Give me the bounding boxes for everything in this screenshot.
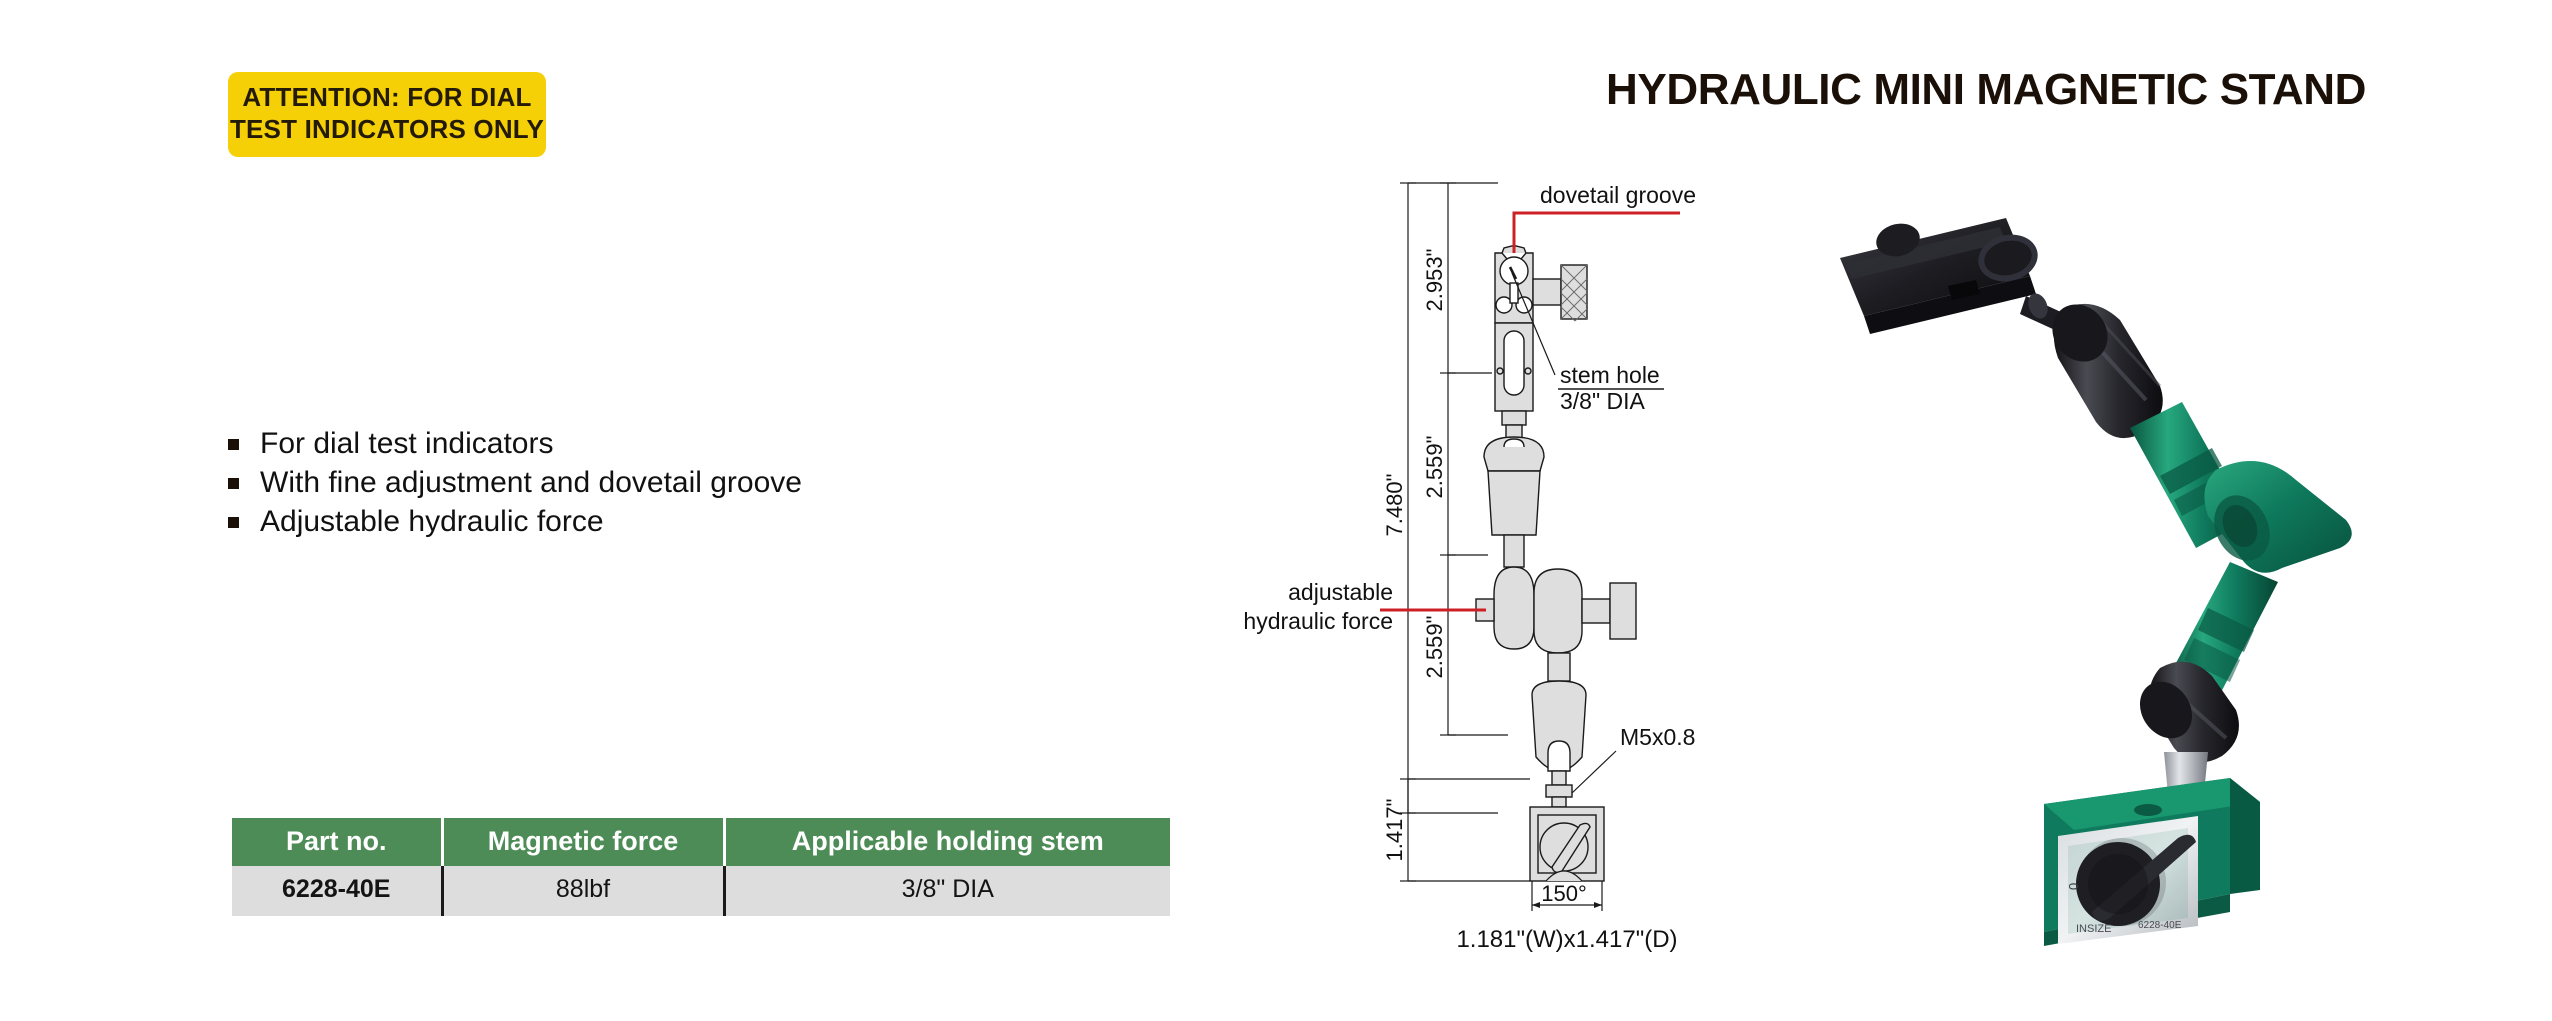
specification-table: Part no. Magnetic force Applicable holdi…: [232, 818, 1170, 916]
fine-adjustment-head: [1495, 246, 1533, 411]
indicator-clamp-head: [1840, 218, 2042, 334]
dimension-upper-arm: [1440, 183, 1492, 373]
dimension-label-lower-arm: 2.559": [1422, 616, 1447, 679]
column-header-holding-stem: Applicable holding stem: [724, 818, 1170, 866]
stem-hole-label-line-1: stem hole: [1560, 362, 1660, 388]
upper-ball-joint: [2041, 293, 2163, 438]
hydraulic-hub: [1476, 567, 1636, 653]
stem-hole-label-line-2: 3/8" DIA: [1560, 388, 1646, 414]
base-footprint-label: 1.181"(W)x1.417"(D): [1456, 926, 1677, 953]
green-adjust-knob[interactable]: [2204, 461, 2352, 573]
dovetail-leader-line: [1514, 213, 1680, 253]
product-photo: 0 INSIZE 6228-40E: [1830, 190, 2390, 980]
cell-holding-stem: 3/8" DIA: [724, 866, 1170, 916]
table-row: 6228-40E 88lbf 3/8" DIA: [232, 866, 1170, 916]
attention-badge: ATTENTION: FOR DIAL TEST INDICATORS ONLY: [228, 72, 546, 157]
dimension-label-upper-arm: 2.953": [1422, 249, 1447, 312]
hydraulic-callout-line-2: hydraulic force: [1218, 607, 1393, 636]
feature-item-label: For dial test indicators: [260, 427, 553, 460]
table-header-row: Part no. Magnetic force Applicable holdi…: [232, 818, 1170, 866]
dimension-base-height: [1400, 779, 1530, 881]
column-header-part-no: Part no.: [232, 818, 442, 866]
dimension-label-mid-arm: 2.559": [1422, 436, 1447, 499]
feature-item: With fine adjustment and dovetail groove: [228, 463, 802, 502]
dimension-mid-arm: [1440, 373, 1488, 555]
square-bullet-icon: [228, 517, 239, 528]
page-title: HYDRAULIC MINI MAGNETIC STAND: [1516, 65, 2456, 115]
faceplate-marking: 0: [2066, 883, 2081, 890]
feature-item-label: Adjustable hydraulic force: [260, 505, 604, 538]
adjustable-hydraulic-force-callout: adjustable hydraulic force: [1218, 578, 1393, 636]
m5-stud: [1546, 771, 1572, 807]
attention-badge-line-1: ATTENTION: FOR DIAL: [228, 82, 546, 114]
feature-item: Adjustable hydraulic force: [228, 502, 802, 541]
magnetic-base-block: 0 INSIZE 6228-40E: [2044, 778, 2260, 946]
dimension-overall-height: [1400, 183, 1498, 813]
dimension-label-base-height: 1.417": [1382, 799, 1407, 862]
base-angle-label: 150°: [1541, 881, 1587, 906]
hydraulic-callout-line-1: adjustable: [1218, 578, 1393, 607]
cell-part-no: 6228-40E: [232, 866, 442, 916]
feature-list: For dial test indicators With fine adjus…: [228, 424, 802, 541]
brand-marking: INSIZE: [2076, 923, 2111, 935]
column-header-magnetic-force: Magnetic force: [442, 818, 724, 866]
dovetail-groove-label: dovetail groove: [1540, 182, 1696, 208]
cell-magnetic-force: 88lbf: [442, 866, 724, 916]
model-marking: 6228-40E: [2138, 920, 2182, 931]
square-bullet-icon: [228, 439, 239, 450]
lower-ball-joint: [1532, 653, 1586, 771]
upper-ball-joint: [1484, 437, 1544, 567]
square-bullet-icon: [228, 478, 239, 489]
magnetic-base: [1530, 807, 1604, 881]
feature-item-label: With fine adjustment and dovetail groove: [260, 466, 802, 499]
technical-drawing: 7.480" 2.953" 2.559" 2.559": [1380, 175, 1860, 995]
dimension-label-overall-height: 7.480": [1382, 474, 1407, 537]
knurled-thumbscrew: [1533, 265, 1587, 321]
base-faceplate: 0 INSIZE 6228-40E: [2058, 816, 2198, 944]
feature-item: For dial test indicators: [228, 424, 802, 463]
thread-spec-label: M5x0.8: [1620, 724, 1695, 750]
attention-badge-line-2: TEST INDICATORS ONLY: [228, 114, 546, 146]
